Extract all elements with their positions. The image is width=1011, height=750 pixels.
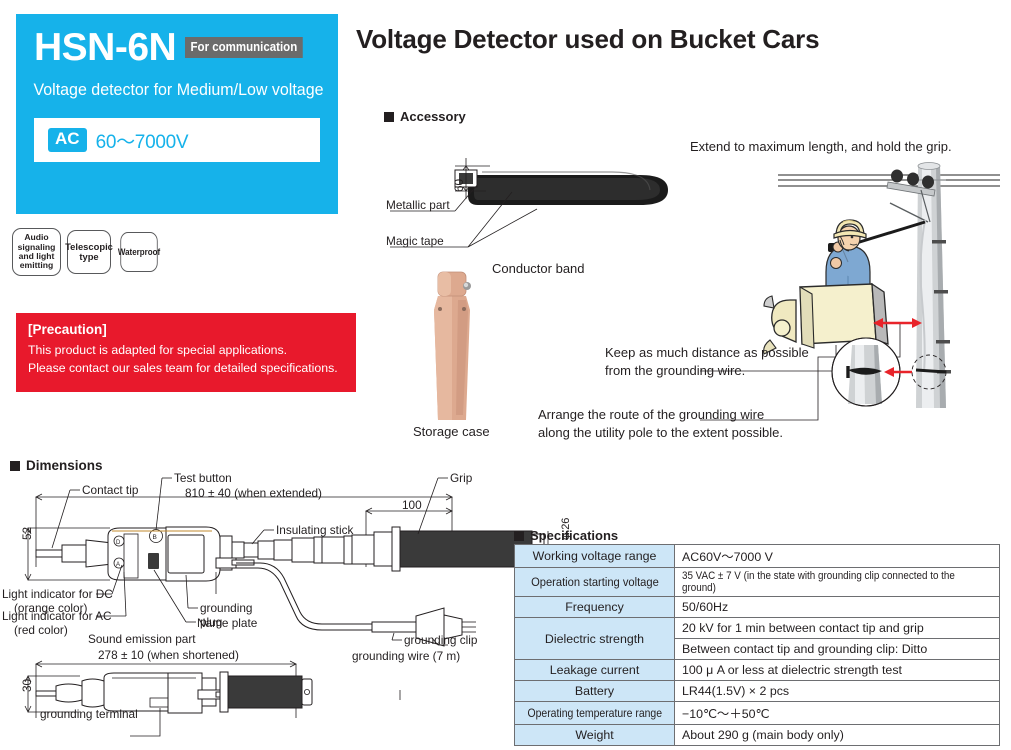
spec-key: Battery bbox=[515, 681, 675, 702]
label-indicator-ac-line2: (red color) bbox=[14, 623, 68, 637]
svg-text:B: B bbox=[153, 534, 157, 541]
label-name-plate: Name plate bbox=[197, 616, 257, 630]
label-grounding-clip: grounding clip bbox=[404, 633, 477, 647]
specifications-table: Working voltage range AC60V～7000 V Opera… bbox=[514, 544, 1000, 746]
table-row: Weight About 290 g (main body only) bbox=[515, 725, 1000, 746]
spec-value: LR44(1.5V) × 2 pcs bbox=[675, 681, 1000, 702]
spec-key-text: Operation starting voltage bbox=[531, 575, 659, 589]
spec-key: Operation starting voltage bbox=[515, 568, 675, 597]
spec-key: Frequency bbox=[515, 597, 675, 618]
detector-contact-tip bbox=[36, 540, 112, 567]
label-indicator-dc-line1: Light indicator for DC bbox=[2, 587, 113, 601]
label-grounding-wire: grounding wire (7 m) bbox=[352, 649, 460, 663]
table-row: Dielectric strength 20 kV for 1 min betw… bbox=[515, 618, 1000, 639]
spec-value: 50/60Hz bbox=[675, 597, 1000, 618]
spec-value: About 290 g (main body only) bbox=[675, 725, 1000, 746]
table-row: Battery LR44(1.5V) × 2 pcs bbox=[515, 681, 1000, 702]
spec-key: Operating temperature range bbox=[515, 702, 675, 725]
svg-text:A: A bbox=[116, 562, 120, 568]
spec-value: 35 VAC ± 7 V (in the state with groundin… bbox=[675, 568, 1000, 597]
spec-value-text: 35 VAC ± 7 V (in the state with groundin… bbox=[682, 570, 957, 594]
dim-extended-label: 810 ± 40 (when extended) bbox=[185, 486, 322, 500]
spec-value: −10℃～＋50℃ bbox=[675, 702, 1000, 725]
dim-grip-100-label: 100 bbox=[402, 498, 422, 512]
spec-key: Leakage current bbox=[515, 660, 675, 681]
table-row: Working voltage range AC60V～7000 V bbox=[515, 545, 1000, 568]
svg-text:D: D bbox=[116, 540, 121, 546]
table-row: Operating temperature range −10℃～＋50℃ bbox=[515, 702, 1000, 725]
spec-key: Dielectric strength bbox=[515, 618, 675, 660]
spec-key-text: Operating temperature range bbox=[527, 707, 662, 720]
insulating-stick bbox=[232, 532, 392, 566]
spec-key: Weight bbox=[515, 725, 675, 746]
table-row: Leakage current 100 μ A or less at diele… bbox=[515, 660, 1000, 681]
label-insulating-stick: Insulating stick bbox=[276, 523, 353, 537]
label-test-button: Test button bbox=[174, 471, 232, 485]
dim-height-30-label: 30 bbox=[20, 679, 34, 692]
spec-key: Working voltage range bbox=[515, 545, 675, 568]
label-sound-emission: Sound emission part bbox=[88, 632, 196, 646]
spec-value-secondary: Between contact tip and grounding clip: … bbox=[675, 639, 1000, 660]
detector-body: D A B bbox=[108, 527, 220, 581]
datasheet-page: HSN-6N For communication Voltage detecto… bbox=[0, 0, 1011, 750]
label-indicator-ac-line1: Light indicator for AC bbox=[2, 609, 112, 623]
label-grounding-plug-line1: grounding bbox=[200, 601, 252, 615]
table-row: Operation starting voltage 35 VAC ± 7 V … bbox=[515, 568, 1000, 597]
dim-height-52-label: 52 bbox=[20, 527, 34, 540]
spec-value: AC60V～7000 V bbox=[675, 545, 1000, 568]
label-grounding-terminal: grounding terminal bbox=[40, 707, 138, 721]
section-heading-specifications: Specifications bbox=[514, 528, 618, 543]
label-contact-tip: Contact tip bbox=[82, 483, 138, 497]
dim-shortened-label: 278 ± 10 (when shortened) bbox=[98, 648, 239, 662]
table-row: Frequency 50/60Hz bbox=[515, 597, 1000, 618]
label-grip: Grip bbox=[450, 471, 472, 485]
spec-value: 20 kV for 1 min between contact tip and … bbox=[675, 618, 1000, 639]
spec-value: 100 μ A or less at dielectric strength t… bbox=[675, 660, 1000, 681]
detector-shortened-drawing bbox=[36, 672, 312, 736]
